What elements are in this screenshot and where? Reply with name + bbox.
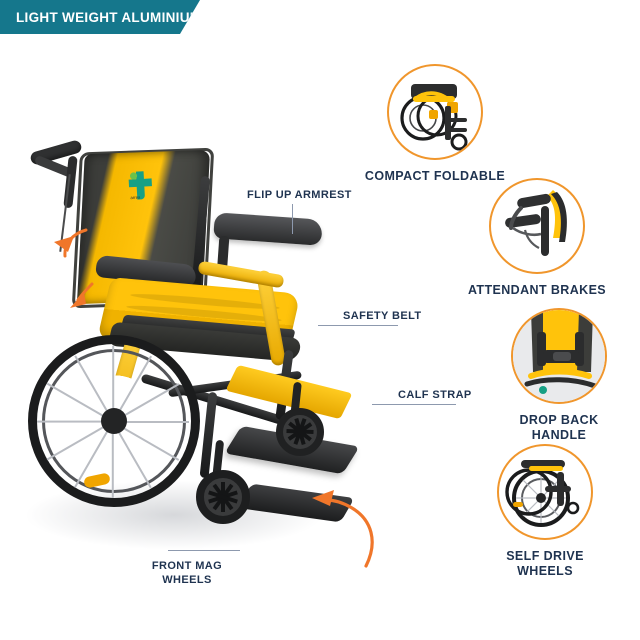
- arrow-quick-release: [60, 278, 106, 324]
- feature-drop-back-handle[interactable]: DROP BACK HANDLE: [484, 308, 634, 443]
- callout-front-mag-wheels: FRONT MAG WHEELS: [132, 559, 242, 587]
- feature-caption-self-drive-wheels: SELF DRIVE WHEELS: [470, 549, 620, 579]
- header-banner: LIGHT WEIGHT ALUMINIUM: [0, 0, 200, 34]
- leader-line-front-mag-wheels: [168, 550, 240, 551]
- feature-caption-attendant-brakes: ATTENDANT BRAKES: [462, 283, 612, 298]
- drop-back-handle-thumb: [513, 310, 605, 402]
- callout-flip-up-armrest: FLIP UP ARMREST: [247, 188, 352, 202]
- feature-self-drive-wheels[interactable]: SELF DRIVE WHEELS: [470, 444, 620, 579]
- callout-label-text-line2: WHEELS: [132, 573, 242, 587]
- leader-line-calf-strap: [372, 404, 456, 405]
- front-caster-wheel-right: [276, 408, 324, 456]
- callout-label-text: SAFETY BELT: [343, 310, 422, 322]
- callout-label-text: CALF STRAP: [398, 389, 472, 401]
- leader-line-flip-up-armrest: [292, 204, 293, 234]
- feature-caption-line2: HANDLE: [484, 428, 634, 443]
- wheel-hub: [101, 408, 127, 434]
- brand-cross-logo: arrex: [122, 167, 158, 203]
- arrow-footplate-swing: [296, 450, 382, 570]
- attendant-brake-levers-thumb: [491, 180, 583, 272]
- feature-caption-line1: DROP BACK: [484, 413, 634, 428]
- folded-wheelchair-thumb: [389, 66, 481, 158]
- feature-caption-line2: WHEELS: [470, 564, 620, 579]
- feature-compact-foldable[interactable]: COMPACT FOLDABLE: [360, 64, 510, 184]
- feature-attendant-brakes[interactable]: ATTENDANT BRAKES: [462, 178, 612, 298]
- self-drive-wheel-thumb: [499, 446, 591, 538]
- feature-caption-drop-back-handle: DROP BACK HANDLE: [484, 413, 634, 443]
- feature-caption-line1: SELF DRIVE: [470, 549, 620, 564]
- feature-thumbnail-compact-foldable: [387, 64, 483, 160]
- header-banner-text: LIGHT WEIGHT ALUMINIUM: [0, 10, 201, 25]
- feature-thumbnail-drop-back-handle: [511, 308, 607, 404]
- leader-line-safety-belt: [318, 325, 398, 326]
- front-caster-wheel-left: [196, 470, 250, 524]
- feature-caption-line1: ATTENDANT BRAKES: [462, 283, 612, 298]
- infographic-page: LIGHT WEIGHT ALUMINIUM arrex: [0, 0, 640, 640]
- callout-safety-belt: SAFETY BELT: [343, 309, 422, 323]
- svg-text:arrex: arrex: [130, 195, 141, 201]
- callout-label-text: FLIP UP ARMREST: [247, 189, 352, 201]
- feature-thumbnail-attendant-brakes: [489, 178, 585, 274]
- callout-calf-strap: CALF STRAP: [398, 388, 472, 402]
- feature-thumbnail-self-drive-wheels: [497, 444, 593, 540]
- armrest-right: [213, 212, 323, 245]
- callout-label-text-line1: FRONT MAG: [132, 559, 242, 573]
- frame-rail-upper: [198, 261, 285, 289]
